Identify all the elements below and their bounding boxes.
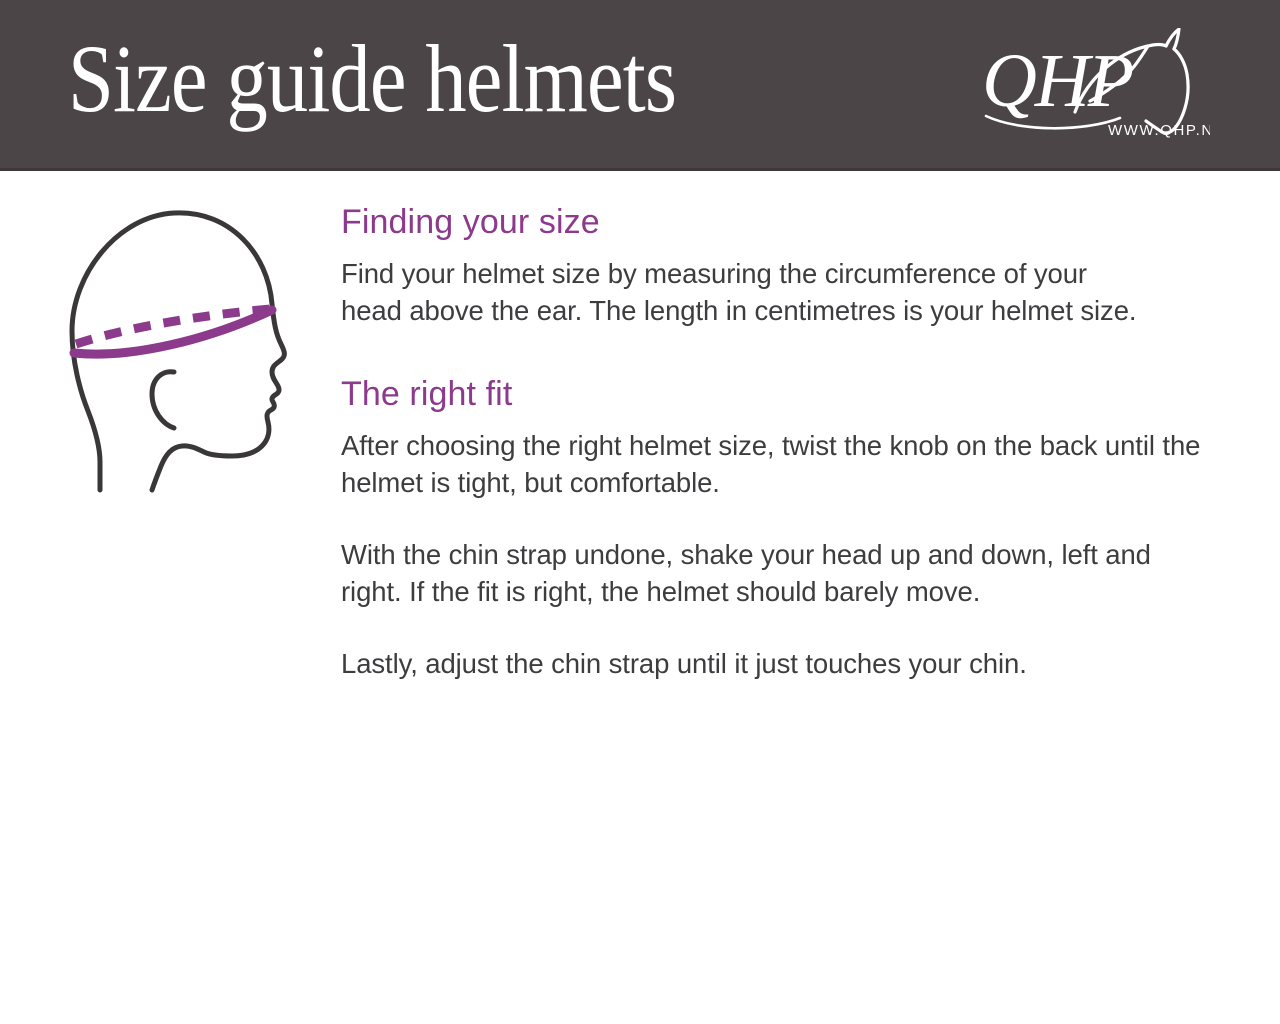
brand-logo[interactable]: QHP WWW.QHP.NL [980,28,1210,148]
qhp-wordmark: QHP [982,39,1133,123]
heading-finding-your-size: Finding your size [341,202,1221,242]
logo-url-text: WWW.QHP.NL [1108,122,1210,139]
section-the-right-fit: The right fit After choosing the right h… [341,374,1221,682]
paragraph-chin-strap: Lastly, adjust the chin strap until it j… [341,645,1201,682]
paragraph-shake-head: With the chin strap undone, shake your h… [341,536,1201,610]
svg-text:QHP: QHP [982,39,1133,123]
paragraph-twist-knob: After choosing the right helmet size, tw… [341,427,1201,501]
head-profile-illustration [62,196,318,496]
paragraph-finding-your-size: Find your helmet size by measuring the c… [341,255,1141,329]
content-column: Finding your size Find your helmet size … [341,202,1221,682]
ear-outline-path [152,372,174,428]
page-title: Size guide helmets [68,24,676,134]
page-header: Size guide helmets QHP WWW.QHP.NL [0,0,1280,171]
section-finding-your-size: Finding your size Find your helmet size … [341,202,1221,329]
heading-the-right-fit: The right fit [341,374,1221,414]
